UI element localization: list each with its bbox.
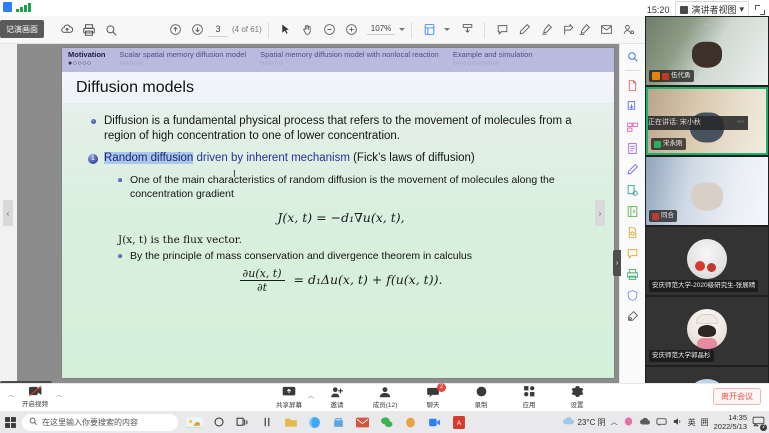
clock-date: 2022/5/13	[714, 422, 747, 431]
clock-time: 14:35	[728, 413, 747, 422]
zoom-level-select[interactable]: 107%	[367, 24, 405, 35]
wechat-icon[interactable]	[378, 414, 395, 431]
comment-icon[interactable]	[491, 19, 513, 41]
hand-icon[interactable]	[297, 19, 319, 41]
slide-bullet-2: 1 Random diffusion driven by inherent me…	[88, 151, 594, 166]
page-number-input[interactable]: 3	[208, 22, 228, 37]
zoom-in-icon[interactable]	[341, 19, 363, 41]
shared-screen-chip[interactable]: 记演画面	[0, 20, 44, 38]
chat-unread-badge: 2	[437, 383, 446, 392]
mic-muted-icon	[652, 213, 659, 220]
bullet-2-accent-text: driven by inherent mechanism	[193, 152, 350, 164]
share-user-icon[interactable]	[617, 19, 639, 41]
cloud-upload-icon[interactable]	[56, 19, 78, 41]
cortana-circle-icon[interactable]	[210, 414, 227, 431]
cloud-tray-icon[interactable]	[639, 417, 651, 428]
collapse-arrow-icon[interactable]: ︿	[704, 18, 711, 28]
qq-icon[interactable]	[402, 414, 419, 431]
windows-taskbar: 在这里输入你要搜索的内容 A 23°C 阴 ︿ 英 囲 14:35	[0, 411, 769, 433]
mic-on-icon	[654, 141, 661, 148]
record-label: 录制	[475, 399, 488, 409]
toggle-video-button[interactable]: 开启视频	[22, 384, 48, 408]
sub-bullet-group-2: By the principle of mass conservation an…	[116, 249, 594, 263]
cursor-arrow-icon[interactable]	[275, 19, 297, 41]
video-participant-column: ︿ 伍代勇 正在讲话: 宋小秋 〰 宋永刚 同合 安	[645, 16, 769, 383]
pdf-reader-window: 记演画面 3 (4 of 61)	[0, 16, 645, 383]
video-tile-active-speaker[interactable]: 正在讲话: 宋小秋 〰 宋永刚	[646, 87, 768, 155]
taskbar-search-box[interactable]: 在这里输入你要搜索的内容	[22, 414, 178, 431]
prev-page-rail-button[interactable]: ‹	[3, 200, 13, 226]
weather-text: 23°C 阴	[578, 417, 606, 428]
formula-right-hand-side: = d₁Δu(x, t) + f(u(x, t)).	[294, 272, 443, 287]
nav-section-example[interactable]: Example and simulation ○○○○○○○○○○	[453, 50, 533, 68]
mic-muted-icon	[662, 73, 669, 80]
mail-app-icon[interactable]	[354, 414, 371, 431]
fill-sign-icon[interactable]	[625, 245, 641, 261]
fraction-denominator: ∂t	[240, 280, 285, 294]
chevron-down-icon	[399, 28, 405, 31]
toolbar-right-group	[573, 19, 639, 41]
participant-name: 安庆师范大学郭晶杉	[652, 351, 711, 361]
video-tile-top[interactable]: ︿ 伍代勇	[646, 17, 768, 85]
task-view-icon[interactable]	[234, 414, 251, 431]
cloud-icon	[562, 416, 575, 428]
fit-page-caret-icon[interactable]	[444, 28, 450, 31]
formula-fraction: ∂u(x, t) ∂t	[240, 267, 285, 294]
bullet-dot-icon	[91, 119, 96, 124]
browser-icon[interactable]	[306, 414, 323, 431]
participant-name-tag: 同合	[649, 210, 677, 222]
invite-button[interactable]: 邀请	[320, 385, 354, 409]
acrobat-icon[interactable]: A	[450, 414, 467, 431]
signal-bars-icon	[16, 3, 31, 12]
nav-section-nonlocal-model[interactable]: Spatial memory diffusion model with nonl…	[260, 50, 439, 68]
apps-icon	[523, 385, 536, 398]
ime-icon[interactable]: 英	[688, 417, 696, 428]
slide-bullet-1: Diffusion is a fundamental physical proc…	[88, 114, 594, 144]
camera-off-icon	[27, 384, 43, 397]
freehand-draw-icon[interactable]	[535, 19, 557, 41]
view-mode-label: 演讲者视图	[691, 3, 736, 16]
zoom-out-icon[interactable]	[319, 19, 341, 41]
network-icon[interactable]	[656, 416, 667, 429]
sidebar-divider	[625, 70, 641, 71]
comment-tool-icon[interactable]	[625, 161, 641, 177]
chat-button[interactable]: 聊天 2	[416, 385, 450, 409]
windows-start-icon[interactable]	[0, 416, 20, 429]
mail-icon[interactable]	[595, 19, 617, 41]
participant-name: 同合	[661, 211, 674, 221]
chat-label: 聊天	[427, 399, 440, 409]
search-icon	[28, 416, 38, 428]
meeting-toolbar-items: 共享屏幕 ︿ 邀请 成员(12) 聊天 2 录制	[272, 385, 594, 409]
nav-section-dots: ○○○○○	[260, 59, 439, 68]
svg-text:A: A	[456, 420, 461, 427]
notification-icon[interactable]: 2	[752, 415, 765, 429]
fit-page-icon[interactable]	[418, 19, 440, 41]
tools-sidebar: ›	[619, 44, 645, 383]
toolbar-divider	[268, 22, 269, 38]
flux-vector-note: J(x, t) is the flux vector.	[118, 234, 594, 246]
settings-button[interactable]: 设置	[560, 385, 594, 409]
nav-section-dots: ○○○○○	[120, 59, 247, 68]
store-icon[interactable]	[330, 414, 347, 431]
weather-widget[interactable]: 23°C 阴	[562, 416, 606, 428]
nav-section-title: Spatial memory diffusion model with nonl…	[260, 50, 439, 59]
apps-label: 应用	[523, 399, 536, 409]
widgets-icon[interactable]	[258, 414, 275, 431]
qq-tray-icon[interactable]	[623, 416, 634, 429]
participant-name-tag: 安庆师范大学郭晶杉	[649, 350, 714, 362]
video-toggle-group: ︿ 开启视频 ︿	[8, 384, 62, 408]
top-strip-left-icons	[3, 2, 31, 12]
pdf-toolbar: 记演画面 3 (4 of 61)	[0, 16, 645, 44]
audio-wave-icon: 〰	[737, 116, 744, 130]
search-tool-icon[interactable]	[625, 48, 641, 64]
avatar	[687, 309, 727, 349]
person-silhouette	[692, 42, 722, 68]
slide-bullet-list: Diffusion is a fundamental physical proc…	[88, 114, 594, 166]
send-comments-icon[interactable]	[625, 266, 641, 282]
avatar-body-icon	[697, 338, 717, 349]
avatar-hat-icon	[696, 314, 718, 324]
video-tile-5[interactable]: 安庆师范大学郭晶杉	[646, 297, 768, 365]
nav-section-dots: ○○○○○○○○○○	[453, 59, 533, 68]
share-screen-caret-icon[interactable]: ︿	[308, 391, 314, 400]
avatar-decor-icon	[695, 261, 705, 271]
page-down-icon[interactable]	[186, 19, 208, 41]
formula-flux: J(x, t) = −d₁∇u(x, t),	[88, 210, 594, 225]
participant-name: 安庆师范大学-2020级研究生-张展晴	[652, 281, 755, 291]
create-pdf-icon[interactable]	[625, 98, 641, 114]
ime-panel-icon[interactable]: 囲	[701, 417, 709, 428]
audio-caret-icon[interactable]: ︿	[8, 390, 14, 399]
notification-badge: 2	[760, 424, 767, 431]
record-icon	[475, 385, 488, 398]
highlight-pen-icon[interactable]	[513, 19, 535, 41]
slide-sub-bullet-2: By the principle of mass conservation an…	[116, 249, 594, 263]
invite-icon	[330, 385, 344, 398]
share-screen-button[interactable]: 共享屏幕 ︿	[272, 385, 306, 409]
share-screen-label: 共享屏幕	[276, 399, 302, 409]
speaking-banner-text: 正在讲话: 宋小秋	[648, 116, 701, 130]
person-silhouette	[691, 182, 723, 210]
nav-section-title: Scalar spatial memory diffusion model	[120, 50, 247, 59]
zoom-level-value: 107%	[367, 24, 395, 35]
system-top-strip: 15:20 演讲者视图 ▾	[0, 0, 769, 16]
participants-label: 成员(12)	[373, 399, 398, 409]
sub-bullet-group-1: One of the main characteristics of rando…	[116, 173, 594, 201]
invite-label: 邀请	[331, 399, 344, 409]
nav-section-scalar-model[interactable]: Scalar spatial memory diffusion model ○○…	[120, 50, 247, 68]
document-canvas: ‹ Motivation ●○○○○ Scalar spatial memory…	[0, 44, 645, 383]
avatar-hair-icon	[698, 325, 716, 337]
video-tile-3[interactable]: 同合	[646, 157, 768, 225]
slide-body: Diffusion is a fundamental physical proc…	[62, 104, 614, 294]
volume-icon[interactable]	[672, 416, 683, 429]
tray-overflow-caret-icon[interactable]: ︿	[611, 417, 618, 427]
slide-sub-bullet-1: One of the main characteristics of rando…	[116, 173, 594, 201]
avatar	[687, 239, 727, 279]
app-badge-icon	[3, 2, 12, 12]
formula-diffusion-equation: ∂u(x, t) ∂t = d₁Δu(x, t) + f(u(x, t)).	[88, 267, 594, 294]
sidebar-expand-tab[interactable]: ›	[613, 250, 621, 276]
share-screen-icon	[282, 385, 296, 398]
system-tray: 23°C 阴 ︿ 英 囲 14:35 2022/5/13 2	[562, 413, 765, 431]
edit-pdf-icon[interactable]	[625, 140, 641, 156]
host-icon	[652, 72, 660, 80]
magnifier-icon[interactable]	[100, 19, 122, 41]
leave-meeting-button[interactable]: 离开会议	[713, 388, 761, 405]
avatar-decor-icon	[707, 263, 716, 272]
toggle-video-label: 开启视频	[22, 398, 48, 408]
chat-tooltip-bubble[interactable]: 谁的什么… ‹	[0, 381, 52, 383]
highlighted-selection[interactable]: Random diffusion	[104, 152, 193, 164]
bullet-dot-icon	[118, 254, 122, 258]
more-tools-icon[interactable]	[625, 308, 641, 324]
page-up-icon[interactable]	[164, 19, 186, 41]
slide-section-nav: Motivation ●○○○○ Scalar spatial memory d…	[62, 48, 614, 72]
settings-label: 设置	[571, 399, 584, 409]
participant-name: 宋永刚	[663, 139, 683, 149]
organize-pages-icon[interactable]	[625, 119, 641, 135]
participant-name-tag: 宋永刚	[651, 138, 686, 150]
speaker-view-icon	[680, 6, 688, 14]
sub-bullet-2-text: By the principle of mass conservation an…	[130, 250, 472, 262]
apps-button[interactable]: 应用	[512, 385, 546, 409]
toolbar-divider	[484, 22, 485, 38]
nav-section-motivation[interactable]: Motivation ●○○○○	[68, 50, 106, 68]
slide-page: Motivation ●○○○○ Scalar spatial memory d…	[62, 48, 614, 378]
toolbar-divider	[411, 22, 412, 38]
video-tile-4[interactable]: 安庆师范大学-2020级研究生-张展晴	[646, 227, 768, 295]
participant-name: 伍代勇	[671, 71, 691, 81]
file-explorer-icon[interactable]	[282, 414, 299, 431]
taskbar-pinned-icons: A	[186, 414, 467, 431]
page-total-label: (4 of 61)	[232, 25, 262, 34]
meeting-control-bar: ︿ 开启视频 ︿ 共享屏幕 ︿ 邀请 成员(12)	[0, 383, 769, 411]
fullscreen-icon[interactable]	[755, 5, 765, 15]
bullet-dot-icon	[118, 178, 122, 182]
bullet-2-tail-text: (Fick’s laws of diffusion)	[350, 152, 475, 164]
taskbar-search-placeholder: 在这里输入你要搜索的内容	[42, 417, 138, 428]
nav-section-title: Example and simulation	[453, 50, 533, 59]
scroll-mode-icon[interactable]	[456, 19, 478, 41]
shield-tool-icon[interactable]	[625, 287, 641, 303]
export-pdf-icon[interactable]	[625, 77, 641, 93]
slide-title: Diffusion models	[62, 72, 614, 104]
speaking-banner: 正在讲话: 宋小秋 〰	[646, 116, 748, 130]
participants-icon	[378, 385, 392, 398]
participant-name-tag: 安庆师范大学-2020级研究生-张展晴	[649, 280, 758, 292]
video-tile-6[interactable]	[646, 367, 768, 383]
signature-icon[interactable]	[573, 19, 595, 41]
participants-button[interactable]: 成员(12)	[368, 385, 402, 409]
nav-section-dots: ●○○○○	[68, 59, 106, 68]
compress-pdf-icon[interactable]	[625, 203, 641, 219]
settings-gear-icon	[571, 385, 584, 398]
combine-files-icon[interactable]	[625, 182, 641, 198]
numbered-bullet-icon: 1	[88, 154, 98, 164]
meeting-clock: 15:20	[647, 5, 670, 15]
protect-pdf-icon[interactable]	[625, 224, 641, 240]
wallpaper-thumbnail-icon[interactable]	[186, 414, 203, 431]
view-mode-caret: ▾	[739, 4, 744, 15]
nav-section-title: Motivation	[68, 50, 106, 59]
next-page-rail-button[interactable]: ›	[595, 200, 605, 226]
bullet-1-text: Diffusion is a fundamental physical proc…	[104, 115, 572, 142]
video-caret-icon[interactable]: ︿	[56, 390, 62, 399]
record-button[interactable]: 录制	[464, 385, 498, 409]
taskbar-clock[interactable]: 14:35 2022/5/13	[714, 413, 747, 431]
participant-name-tag: 伍代勇	[649, 70, 694, 82]
meeting-app-icon[interactable]	[426, 414, 443, 431]
fraction-numerator: ∂u(x, t)	[240, 267, 285, 280]
sub-bullet-1-text: One of the main characteristics of rando…	[130, 174, 555, 200]
print-icon[interactable]	[78, 19, 100, 41]
